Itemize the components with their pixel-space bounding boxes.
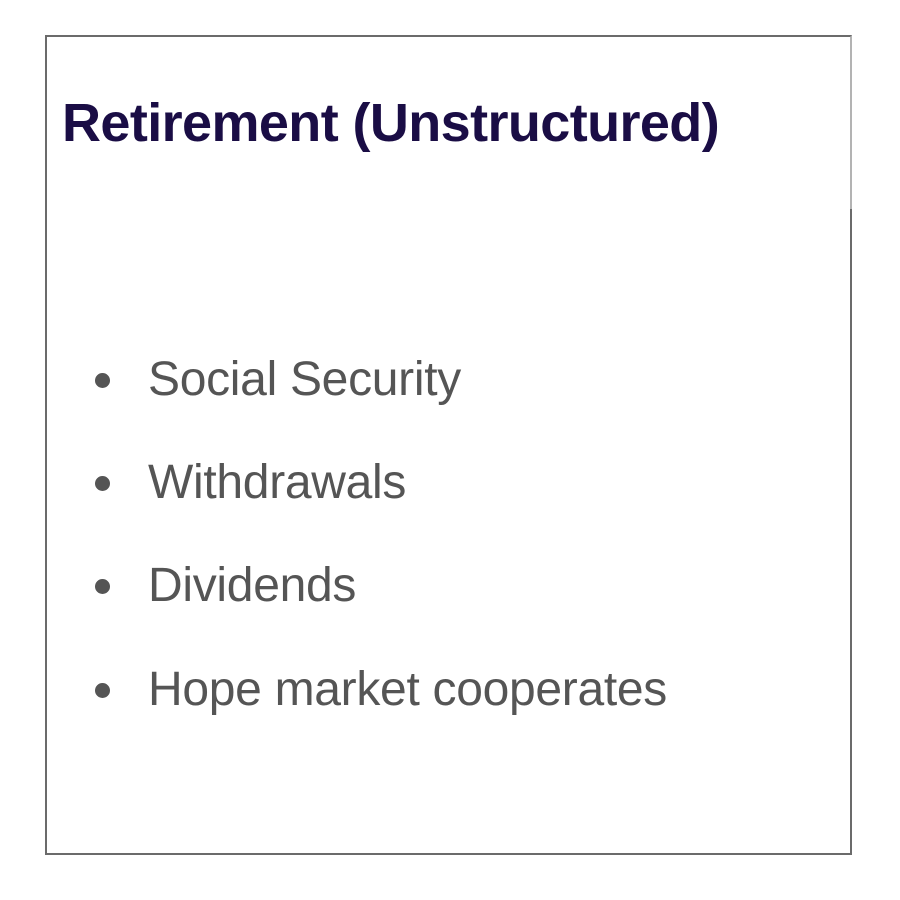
list-item: Social Security bbox=[95, 350, 461, 410]
list-item: Dividends bbox=[95, 556, 356, 616]
retirement-card: Retirement (Unstructured) Social Securit… bbox=[45, 35, 852, 855]
filled-circle-bullet-icon bbox=[95, 579, 110, 594]
slide-canvas: Retirement (Unstructured) Social Securit… bbox=[0, 0, 900, 900]
filled-circle-bullet-icon bbox=[95, 683, 110, 698]
card-body: Social Security Withdrawals Dividends Ho… bbox=[45, 209, 852, 855]
list-item: Withdrawals bbox=[95, 453, 406, 513]
list-item-label: Withdrawals bbox=[148, 457, 406, 510]
filled-circle-bullet-icon bbox=[95, 476, 110, 491]
card-title: Retirement (Unstructured) bbox=[47, 95, 729, 152]
card-header: Retirement (Unstructured) bbox=[45, 35, 852, 209]
list-item: Hope market cooperates bbox=[95, 660, 667, 720]
list-item-label: Hope market cooperates bbox=[148, 664, 667, 717]
filled-circle-bullet-icon bbox=[95, 373, 110, 388]
list-item-label: Dividends bbox=[148, 560, 356, 613]
list-item-label: Social Security bbox=[148, 354, 461, 407]
